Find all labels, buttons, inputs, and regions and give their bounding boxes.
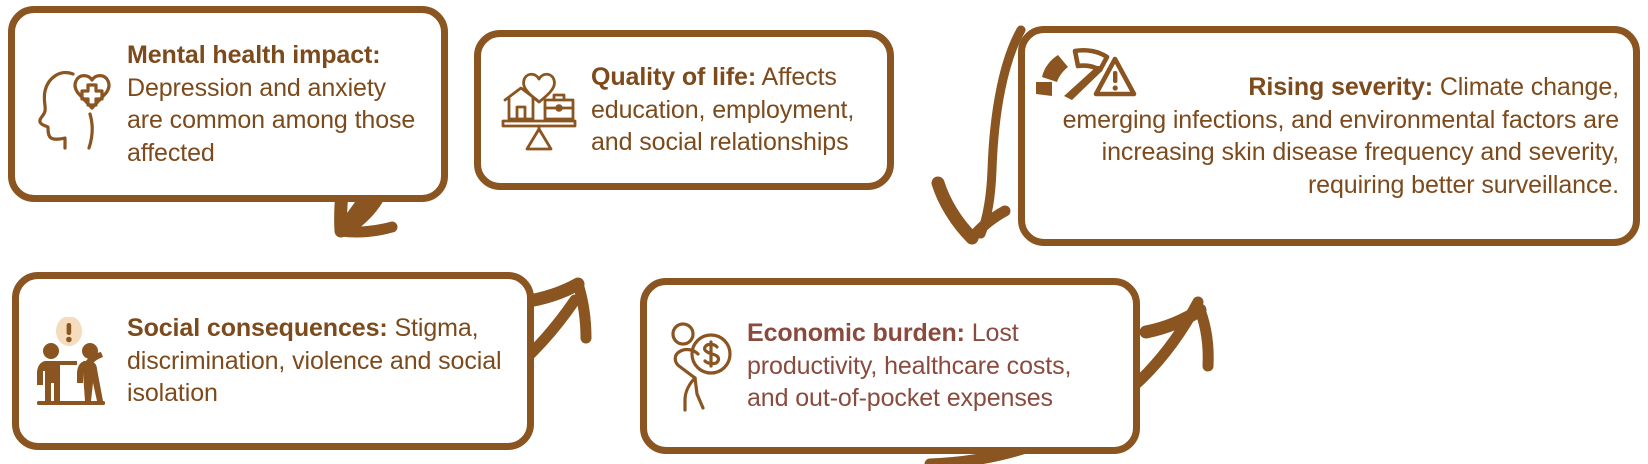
- node-text-quality-of-life: Quality of life: Affects education, empl…: [591, 61, 873, 159]
- node-mental-health-impact[interactable]: Mental health impact: Depression and anx…: [8, 6, 448, 202]
- node-social-consequences[interactable]: Social consequences: Stigma, discriminat…: [12, 272, 534, 450]
- gauge-warning-icon: [1030, 44, 1138, 106]
- node-quality-of-life[interactable]: Quality of life: Affects education, empl…: [474, 30, 894, 190]
- node-text-mental-health-impact: Mental health impact: Depression and anx…: [127, 39, 419, 169]
- person-carrying-dollar-icon: [665, 320, 739, 412]
- balance-scale-home-briefcase-icon: [497, 67, 581, 153]
- two-people-exclamation-icon: [33, 317, 119, 405]
- node-heading-mental-health-impact: Mental health impact:: [127, 41, 381, 69]
- head-heart-cross-icon: [33, 58, 119, 150]
- node-heading-social-consequences: Social consequences:: [127, 314, 388, 342]
- arrow-rising-to-economic: [938, 30, 1021, 238]
- node-text-social-consequences: Social consequences: Stigma, discriminat…: [127, 312, 511, 410]
- node-text-economic-burden: Economic burden: Lost productivity, heal…: [747, 317, 1117, 415]
- node-heading-quality-of-life: Quality of life:: [591, 63, 756, 91]
- node-heading-rising-severity: Rising severity:: [1248, 73, 1433, 101]
- node-economic-burden[interactable]: Economic burden: Lost productivity, heal…: [640, 278, 1140, 454]
- infographic-canvas: Mental health impact: Depression and anx…: [0, 0, 1648, 464]
- node-heading-economic-burden: Economic burden:: [747, 319, 965, 347]
- node-body-mental-health-impact: Depression and anxiety are common among …: [127, 74, 415, 167]
